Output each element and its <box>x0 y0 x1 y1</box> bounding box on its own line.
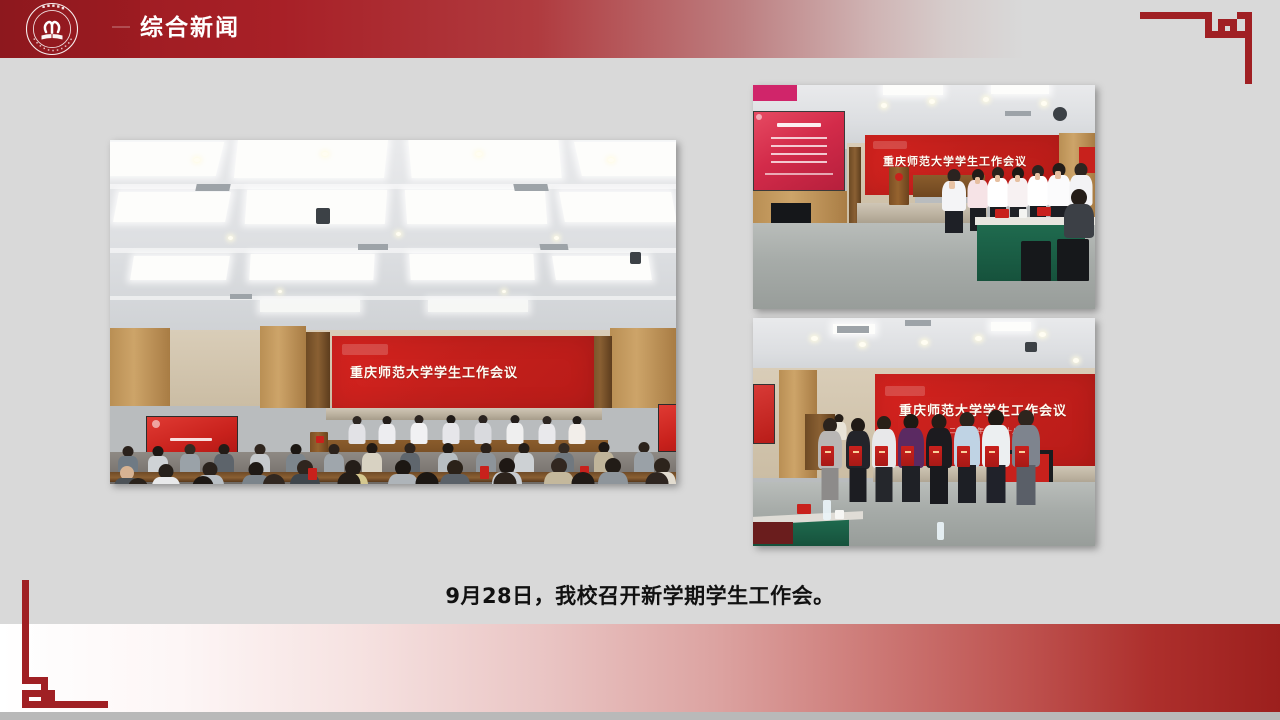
door-frame <box>306 332 330 408</box>
downlight <box>322 152 328 156</box>
banner-title: 重庆师范大学学生工作会议 <box>350 362 518 381</box>
desk-nameplate <box>995 209 1009 218</box>
chongqing-normal-university-seal-icon <box>25 2 79 56</box>
wood-wall-panel <box>110 328 170 406</box>
raised-fist <box>975 177 980 184</box>
downlight <box>929 99 935 104</box>
oath-screen-line <box>771 153 827 155</box>
oath-ceremony-scene: 重庆师范大学学生工作会议 <box>753 85 1095 309</box>
stage-platform <box>326 408 602 420</box>
oath-screen-line <box>771 161 827 163</box>
screen-text-line <box>170 438 212 441</box>
oath-screen-line <box>771 137 827 139</box>
award-certificate <box>849 446 862 466</box>
desk-nameplate <box>308 468 317 480</box>
ceiling-rib <box>110 248 676 253</box>
page-title: 综合新闻 <box>140 12 240 44</box>
downlight <box>1041 101 1047 106</box>
projector <box>630 252 641 264</box>
ceiling-light-panel <box>130 256 230 280</box>
banner-university-logo-icon <box>885 386 925 396</box>
screen-logo-icon <box>152 420 160 428</box>
banner-university-logo-icon <box>873 141 907 149</box>
ceiling-light-panel <box>409 254 534 280</box>
audience-member <box>182 476 224 484</box>
ceiling-light-panel <box>405 190 547 224</box>
audience-member <box>404 472 450 484</box>
ceiling-vent <box>905 320 931 326</box>
award-certificate <box>957 446 970 467</box>
panel-member <box>442 415 460 444</box>
wood-wall-panel <box>260 326 306 408</box>
chair-foreground <box>753 522 793 544</box>
ceiling-light-panel <box>991 85 1049 94</box>
ceiling-light-panel <box>110 142 224 176</box>
side-led-screen <box>753 384 775 444</box>
downlight <box>1073 358 1079 363</box>
photo-award-presentation-group[interactable]: 重庆师范大学学生工作会议 二〇二二年九月二十八日 <box>753 318 1095 546</box>
raised-fist <box>1015 175 1020 182</box>
right-led-screen <box>658 404 676 452</box>
chair <box>1057 239 1089 281</box>
desk-nameplate <box>797 504 811 514</box>
panel-member <box>538 416 556 444</box>
ceiling-vent <box>513 184 548 191</box>
panel-member <box>506 415 524 444</box>
raised-fist <box>995 175 1000 182</box>
wood-wall-panel <box>610 328 676 408</box>
wall-recess <box>771 203 811 225</box>
award-certificate <box>1015 446 1029 467</box>
ceiling-vent <box>837 326 869 333</box>
water-bottle <box>823 500 831 520</box>
ceiling-light-panel <box>234 140 388 178</box>
ceiling-light-panel <box>559 192 676 222</box>
downlight <box>881 103 887 108</box>
ceiling-light-panel <box>574 142 676 176</box>
audience-member <box>636 472 676 484</box>
downlight <box>608 158 614 162</box>
water-bottle <box>937 522 944 540</box>
raised-fist <box>1055 171 1061 179</box>
projector <box>1025 342 1037 352</box>
downlight <box>396 232 401 236</box>
desk-nameplate <box>1037 207 1051 216</box>
downlight <box>228 236 233 240</box>
audience-member <box>118 478 158 484</box>
projector <box>316 208 330 224</box>
ceiling-light-panel <box>991 322 1031 331</box>
audience-member <box>560 472 606 484</box>
screen-logo-icon <box>756 114 762 120</box>
oath-screen-line <box>765 173 833 175</box>
slide-caption: 9月28日，我校召开新学期学生工作会。 <box>0 580 1280 610</box>
raised-fist <box>949 181 955 189</box>
audience-member <box>252 474 296 484</box>
header-divider <box>112 26 130 28</box>
ceiling-vent <box>1005 111 1031 116</box>
audience-member <box>482 472 528 484</box>
award-ceremony-scene: 重庆师范大学学生工作会议 二〇二二年九月二十八日 <box>753 318 1095 546</box>
ceiling-light-panel <box>428 300 528 312</box>
teacup <box>1019 209 1027 218</box>
downlight <box>983 97 989 102</box>
oath-leader <box>941 169 967 233</box>
downlight <box>811 336 818 341</box>
panel-member <box>474 415 492 444</box>
audience-member <box>326 472 372 484</box>
ceiling-light-panel <box>113 192 231 222</box>
decorative-corner-top-right-icon <box>1140 6 1252 84</box>
panel-member <box>568 416 586 444</box>
downlight <box>859 342 866 347</box>
podium-emblem <box>316 436 324 443</box>
downlight <box>194 158 200 162</box>
award-certificate <box>985 446 999 467</box>
downlight <box>1039 332 1046 337</box>
oath-screen-title <box>777 123 821 127</box>
chair <box>1021 241 1051 281</box>
ceiling-vent <box>358 244 388 250</box>
panel-member <box>348 416 366 444</box>
ceiling-light-panel <box>408 140 561 178</box>
ceiling-vent <box>539 244 568 250</box>
oath-screen-line <box>771 145 827 147</box>
slide-canvas: 综合新闻 <box>0 0 1280 720</box>
photo-counselor-oath-ceremony[interactable]: 重庆师范大学学生工作会议 <box>753 85 1095 309</box>
bottom-decorative-band <box>0 624 1280 712</box>
photo-student-work-conference-hall[interactable]: 重庆师范大学学生工作会议 <box>110 140 676 484</box>
ceiling-vent <box>195 184 230 191</box>
downlight <box>476 152 482 156</box>
ceiling-vent <box>230 294 252 299</box>
ceiling-light-panel <box>249 254 374 280</box>
ceiling-rib <box>110 296 676 300</box>
downlight <box>278 290 282 293</box>
award-certificate <box>901 446 914 466</box>
overhead-screen <box>753 85 797 101</box>
award-certificate <box>821 446 834 466</box>
downlight <box>502 290 506 293</box>
conference-hall-scene: 重庆师范大学学生工作会议 <box>110 140 676 484</box>
teacup <box>835 510 844 519</box>
slide-footer-strip <box>0 712 1280 720</box>
downlight <box>554 236 559 240</box>
projector <box>1053 107 1067 121</box>
banner-university-logo-icon <box>342 344 388 355</box>
award-certificate <box>875 446 888 466</box>
downlight <box>975 336 982 341</box>
panel-member <box>410 415 428 444</box>
downlight <box>921 340 928 345</box>
raised-fist <box>1035 173 1040 180</box>
ceiling-light-panel <box>260 300 360 312</box>
ceiling-light-panel <box>883 85 943 95</box>
panel-member <box>378 416 396 444</box>
award-certificate <box>929 446 942 466</box>
slide-header: 综合新闻 <box>0 0 1280 58</box>
podium-emblem <box>895 173 903 181</box>
